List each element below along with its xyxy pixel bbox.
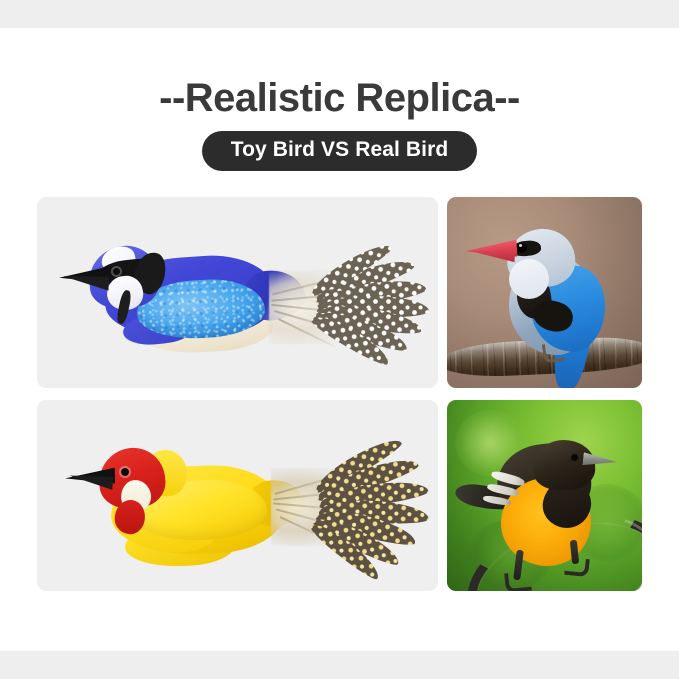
oriole-eye bbox=[571, 454, 578, 461]
comparison-row-yellow-bird bbox=[37, 400, 642, 591]
top-edge-band bbox=[0, 0, 679, 28]
content-area: --Realistic Replica-- Toy Bird VS Real B… bbox=[0, 28, 679, 651]
toy-feather-tail bbox=[271, 434, 429, 574]
comparison-badge: Toy Bird VS Real Bird bbox=[202, 131, 478, 171]
oriole-foot bbox=[504, 571, 532, 591]
comparison-row-blue-jay bbox=[37, 197, 642, 388]
yellow-red-toy-bird bbox=[59, 428, 427, 576]
real-photo-kingfisher bbox=[447, 197, 642, 388]
badge-row: Toy Bird VS Real Bird bbox=[0, 131, 679, 171]
toy-panel-yellow-bird bbox=[37, 400, 438, 591]
kingfisher-eye-highlight bbox=[519, 244, 522, 247]
kingfisher-foot bbox=[542, 342, 565, 364]
oriole-scene bbox=[447, 400, 642, 591]
toy-eye bbox=[121, 468, 129, 476]
header-block: --Realistic Replica-- Toy Bird VS Real B… bbox=[0, 76, 679, 171]
product-comparison-image: --Realistic Replica-- Toy Bird VS Real B… bbox=[0, 0, 679, 679]
toy-eye bbox=[113, 268, 120, 275]
page-title: --Realistic Replica-- bbox=[0, 76, 679, 120]
toy-feather-tail bbox=[269, 234, 429, 368]
blue-jay-toy-bird bbox=[57, 230, 427, 370]
kingfisher-throat bbox=[509, 259, 549, 299]
kingfisher-scene bbox=[447, 197, 642, 388]
bottom-edge-band bbox=[0, 651, 679, 679]
toy-panel-blue-jay bbox=[37, 197, 438, 388]
comparison-grid bbox=[37, 197, 642, 603]
real-photo-oriole bbox=[447, 400, 642, 591]
